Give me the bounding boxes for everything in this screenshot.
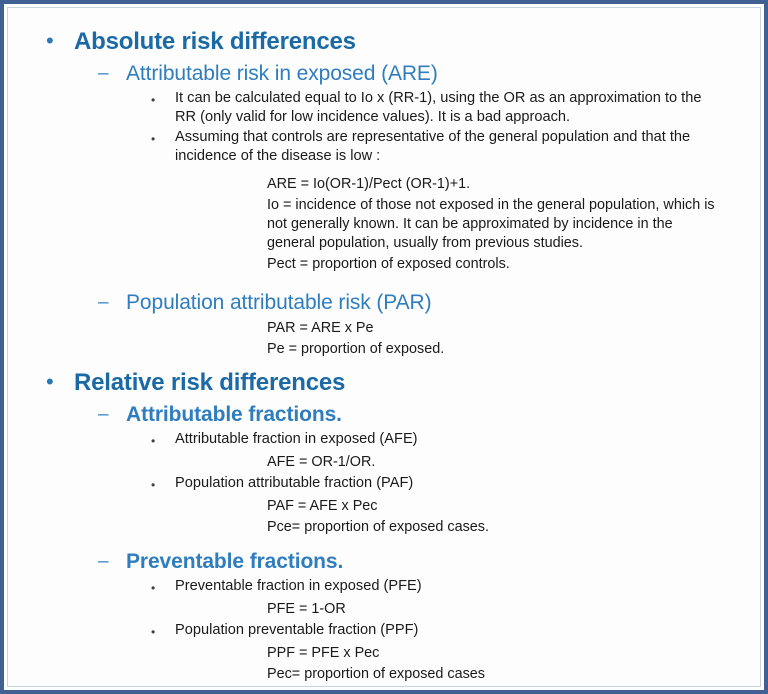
subheading-population-attributable-risk: – Population attributable risk (PAR) — [24, 289, 744, 317]
list-item-label: Population attributable fraction (PAF) — [175, 474, 720, 493]
spacer — [24, 276, 744, 286]
note-pce-definition: Pce= proportion of exposed cases. — [24, 518, 744, 537]
formula-afe: AFE = OR-1/OR. — [24, 453, 744, 472]
list-item: • Population attributable fraction (PAF) — [24, 474, 744, 495]
bullet-icon: • — [46, 367, 74, 395]
list-item-label: Preventable fraction in exposed (PFE) — [175, 577, 720, 596]
note-pe-definition: Pe = proportion of exposed. — [24, 340, 744, 359]
list-item-label: Attributable fraction in exposed (AFE) — [175, 430, 720, 449]
list-item: • Preventable fraction in exposed (PFE) — [24, 577, 744, 598]
dash-icon: – — [98, 401, 126, 428]
heading-level1-label: Absolute risk differences — [74, 26, 744, 57]
formula-are: ARE = Io(OR-1)/Pect (OR-1)+1. — [24, 175, 744, 194]
heading-level2-label: Population attributable risk (PAR) — [126, 289, 744, 317]
bullet-icon: • — [151, 474, 175, 495]
formula-par: PAR = ARE x Pe — [24, 319, 744, 338]
slide-content: • Absolute risk differences – Attributab… — [7, 7, 761, 687]
formula-ppf: PPF = PFE x Pec — [24, 644, 744, 663]
bullet-icon: • — [151, 89, 175, 110]
slide-frame: • Absolute risk differences – Attributab… — [0, 0, 768, 694]
subheading-preventable-fractions: – Preventable fractions. — [24, 548, 744, 576]
bullet-icon: • — [151, 128, 175, 149]
heading-level1-label: Relative risk differences — [74, 367, 744, 398]
list-item: • Population preventable fraction (PPF) — [24, 621, 744, 642]
spacer — [24, 539, 744, 545]
note-pect-definition: Pect = proportion of exposed controls. — [24, 255, 744, 274]
note-pec-definition: Pec= proportion of exposed cases — [24, 665, 744, 684]
heading-absolute-risk-differences: • Absolute risk differences — [24, 26, 744, 57]
heading-relative-risk-differences: • Relative risk differences — [24, 367, 744, 398]
list-item: • Assuming that controls are representat… — [24, 128, 744, 166]
dash-icon: – — [98, 548, 126, 575]
bullet-icon: • — [151, 577, 175, 598]
list-item-label: Population preventable fraction (PPF) — [175, 621, 720, 640]
subheading-attributable-fractions: – Attributable fractions. — [24, 401, 744, 429]
heading-level2-label: Preventable fractions. — [126, 548, 744, 576]
spacer — [24, 167, 744, 173]
heading-level2-label: Attributable fractions. — [126, 401, 744, 429]
bullet-icon: • — [151, 430, 175, 451]
subheading-attributable-risk-exposed: – Attributable risk in exposed (ARE) — [24, 60, 744, 88]
note-io-definition: Io = incidence of those not exposed in t… — [24, 196, 744, 253]
formula-paf: PAF = AFE x Pec — [24, 497, 744, 516]
bullet-icon: • — [46, 26, 74, 54]
bullet-icon: • — [151, 621, 175, 642]
dash-icon: – — [98, 289, 126, 316]
list-item: • Attributable fraction in exposed (AFE) — [24, 430, 744, 451]
formula-pfe: PFE = 1-OR — [24, 600, 744, 619]
heading-level2-label: Attributable risk in exposed (ARE) — [126, 60, 744, 88]
list-item-label: Assuming that controls are representativ… — [175, 128, 720, 166]
dash-icon: – — [98, 60, 126, 87]
list-item-label: It can be calculated equal to Io x (RR-1… — [175, 89, 720, 127]
list-item: • It can be calculated equal to Io x (RR… — [24, 89, 744, 127]
